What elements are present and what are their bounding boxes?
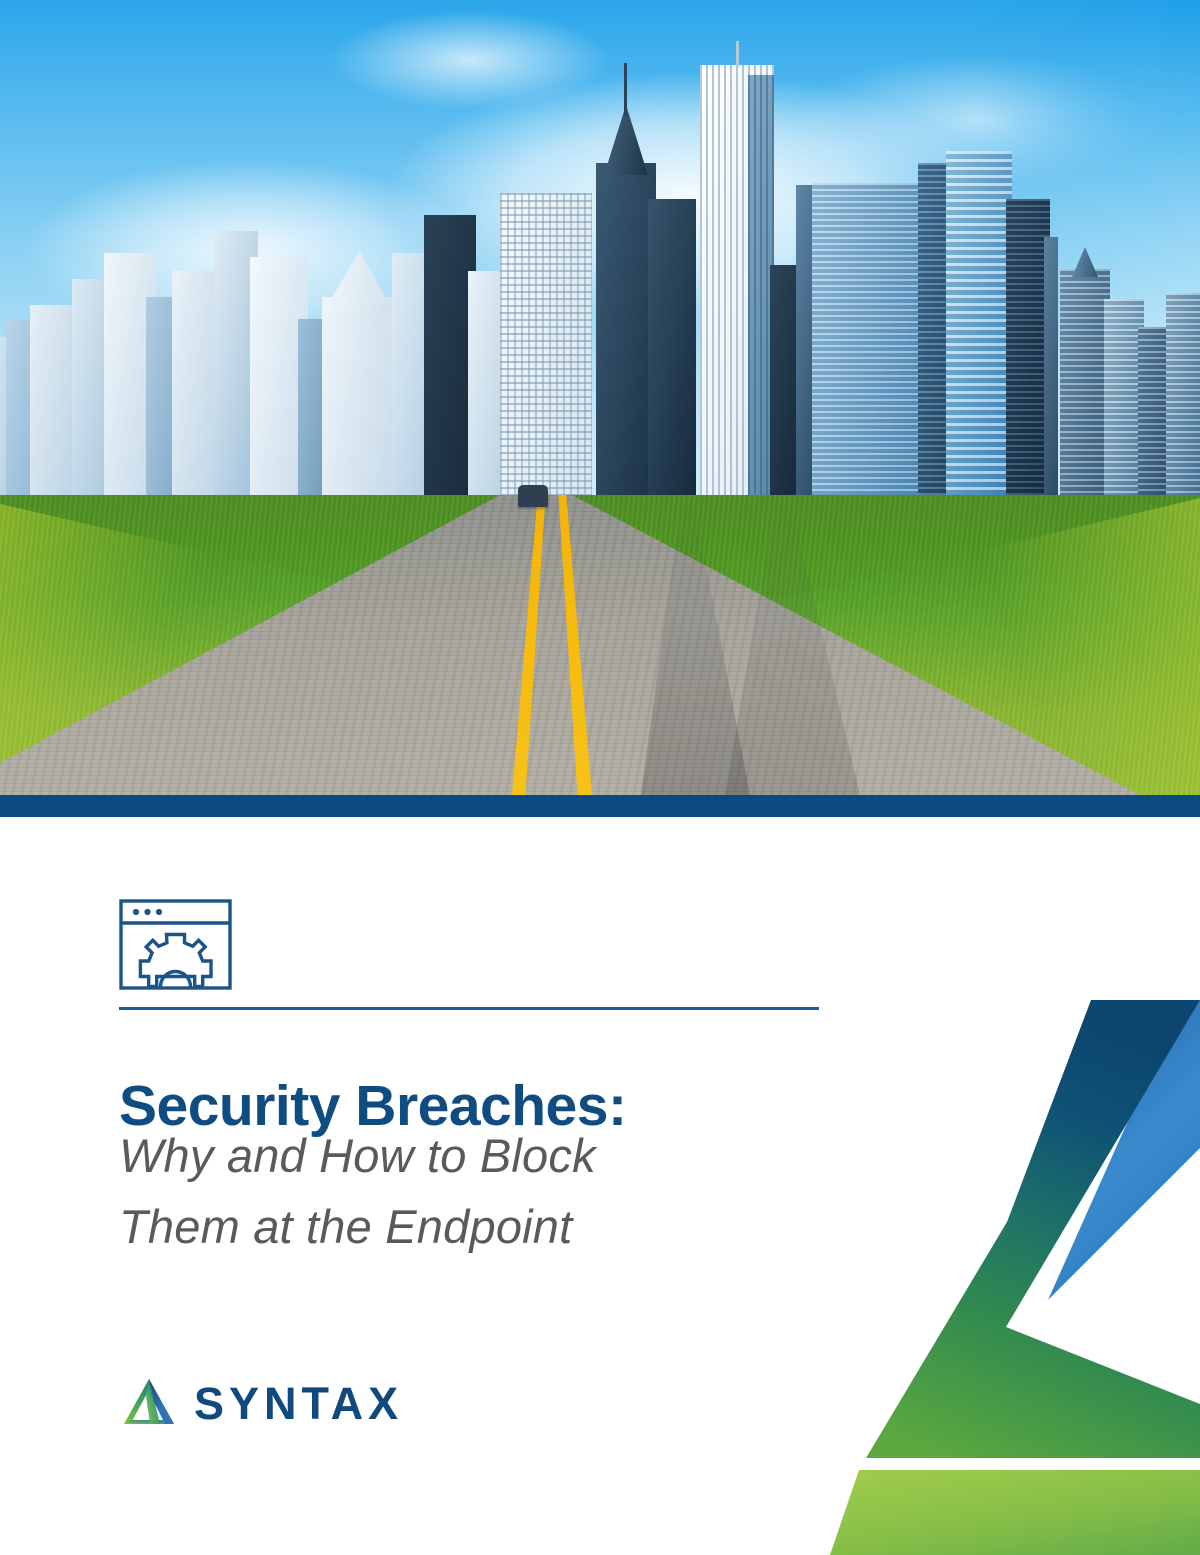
building-diamond-top <box>322 297 396 515</box>
hero-photo <box>0 0 1200 795</box>
building-diamond-roof <box>322 251 396 315</box>
building-peaked-roof <box>1072 247 1098 277</box>
building <box>648 199 696 515</box>
building-blue-tower <box>946 151 1012 515</box>
building <box>30 305 76 515</box>
distant-car <box>518 485 548 507</box>
cover-page: Security Breaches: Why and How to Block … <box>0 0 1200 1555</box>
brand-logo: SYNTAX <box>120 1374 403 1432</box>
hero-accent-bar <box>0 795 1200 817</box>
brand-wordmark: SYNTAX <box>194 1381 403 1426</box>
subtitle-line-2: Them at the Endpoint <box>119 1191 879 1262</box>
building <box>1044 237 1058 515</box>
city-skyline <box>0 45 1200 515</box>
subtitle-line-1: Why and How to Block <box>119 1120 879 1191</box>
building-blue-glass <box>812 183 924 515</box>
building-spire <box>596 163 656 515</box>
building <box>1166 293 1200 515</box>
syntax-triangle-logo-icon <box>120 1374 178 1432</box>
building-grid-tower <box>500 193 592 515</box>
page-subtitle: Why and How to Block Them at the Endpoin… <box>119 1120 879 1263</box>
building-aon-mast <box>736 41 739 67</box>
building <box>1060 269 1110 515</box>
cover-content: Security Breaches: Why and How to Block … <box>0 817 1200 1555</box>
title-divider-rule <box>119 1007 819 1010</box>
building-spire-mast <box>624 63 627 115</box>
browser-window-gear-icon <box>119 899 232 990</box>
building-spire-top <box>604 105 648 175</box>
